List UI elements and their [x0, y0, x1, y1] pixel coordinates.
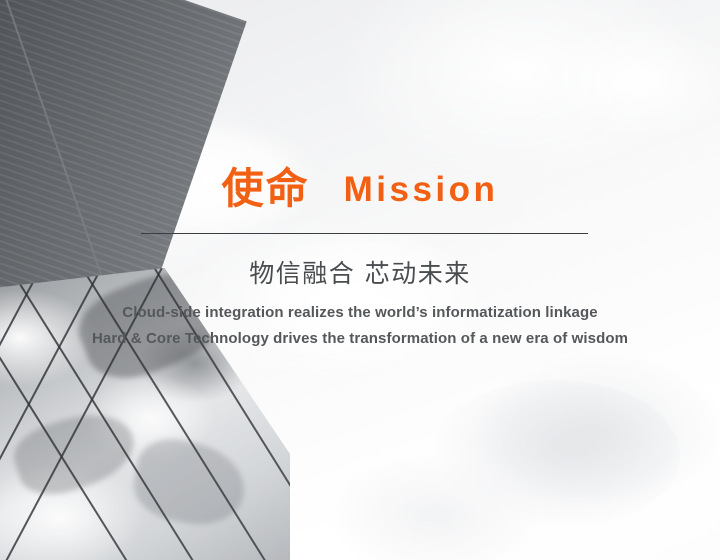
- banner-subtitle-chinese: 物信融合 芯动未来: [0, 258, 720, 289]
- description-line-2: Hard & Core Technology drives the transf…: [0, 326, 720, 352]
- heading-divider-rule: [141, 233, 588, 234]
- description-line-1: Cloud-side integration realizes the worl…: [0, 300, 720, 326]
- banner-content: 使命Mission 物信融合 芯动未来 Cloud-side integrati…: [0, 0, 720, 560]
- mission-banner: 使命Mission 物信融合 芯动未来 Cloud-side integrati…: [0, 0, 720, 560]
- banner-heading: 使命Mission: [0, 168, 720, 210]
- heading-english: Mission: [344, 172, 499, 207]
- heading-chinese: 使命: [222, 168, 310, 210]
- banner-description: Cloud-side integration realizes the worl…: [0, 300, 720, 352]
